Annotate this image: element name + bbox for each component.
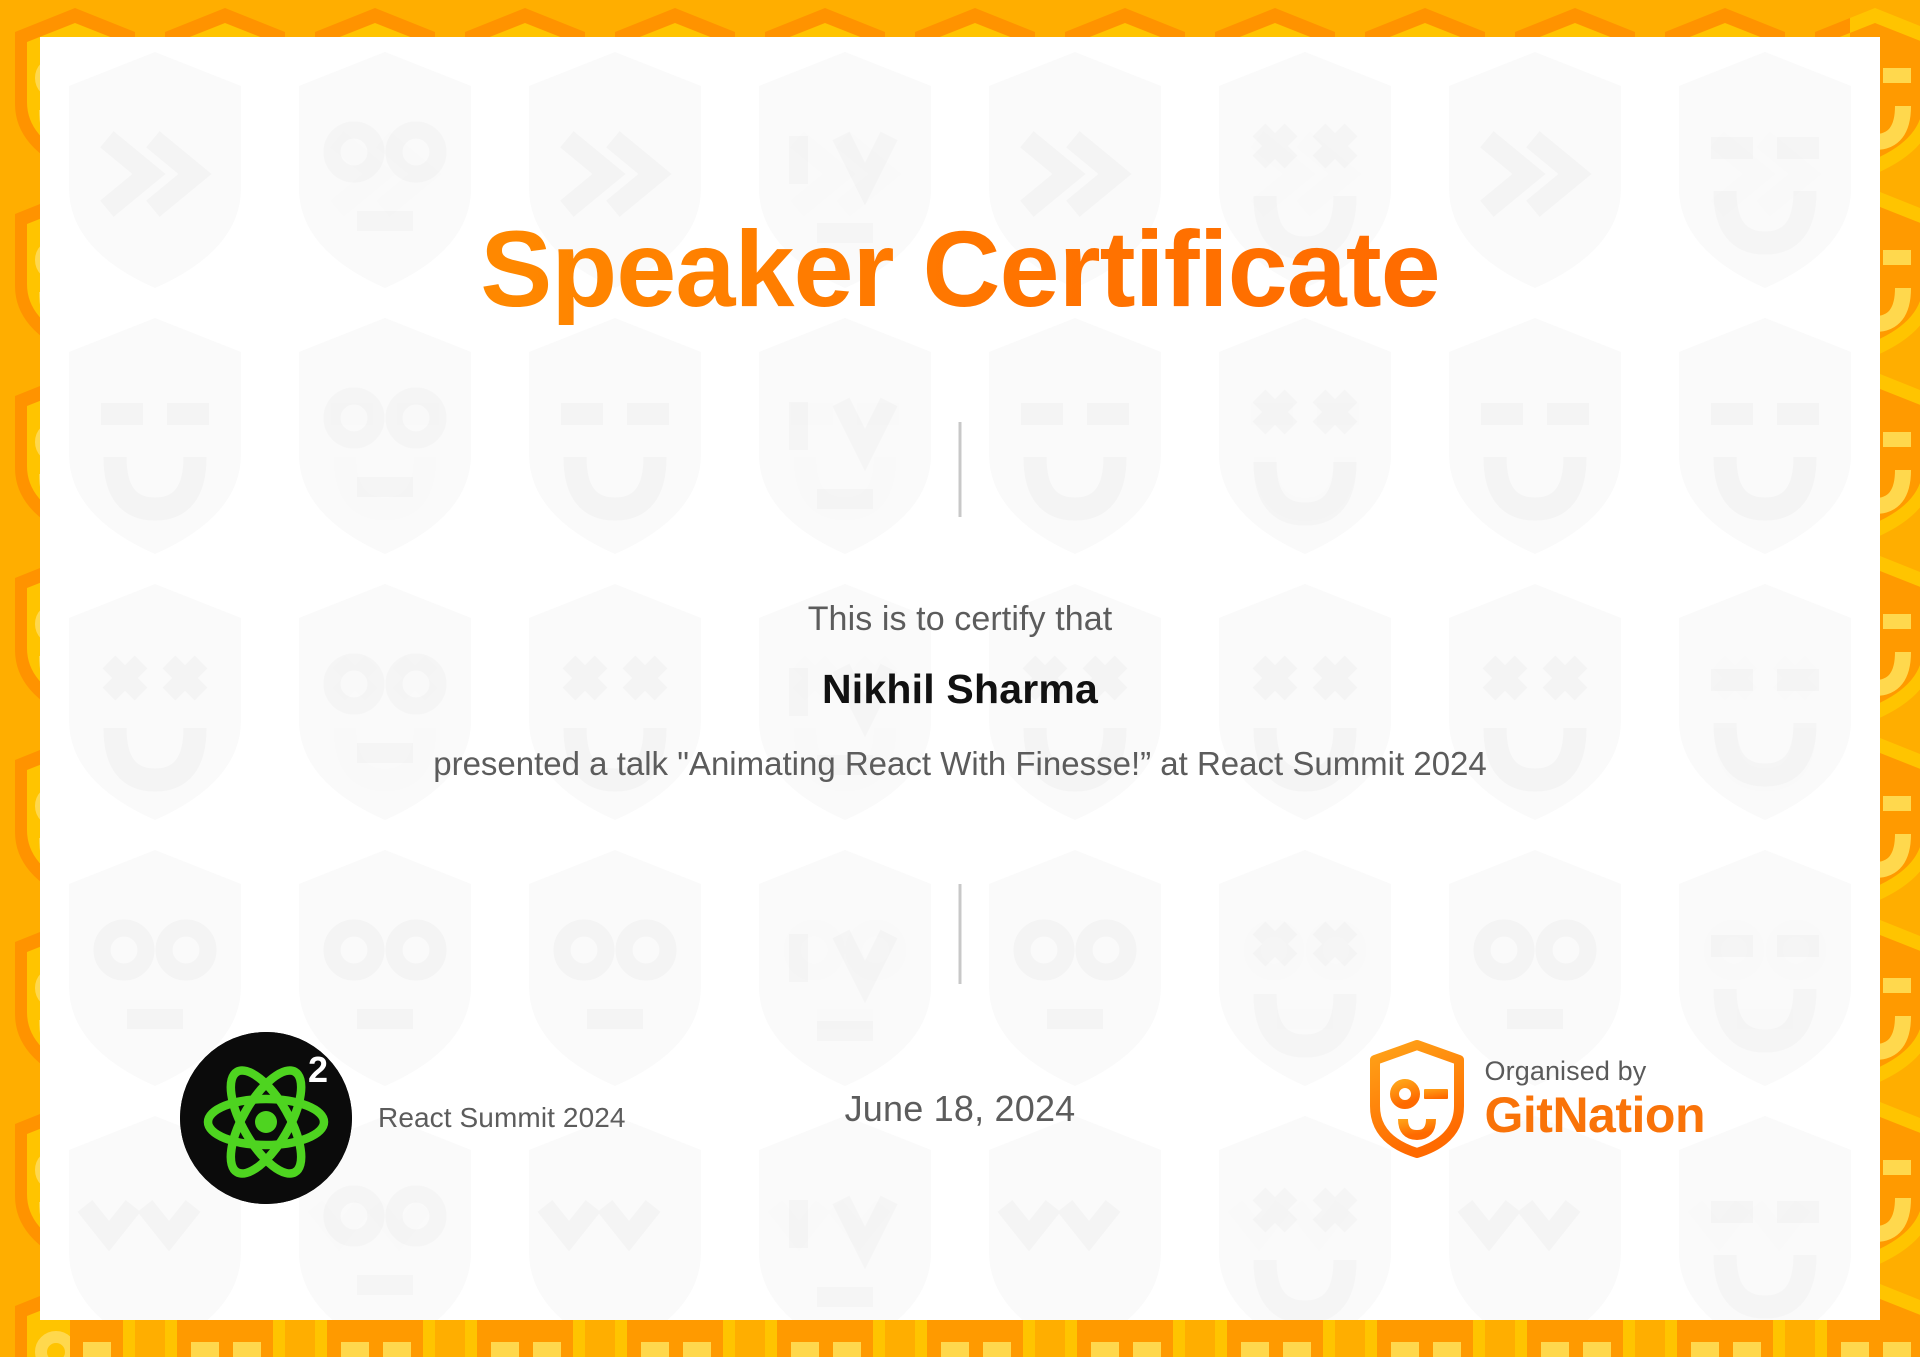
organiser-block: Organised by GitNation [1369, 1040, 1705, 1158]
organiser-prefix-label: Organised by [1485, 1057, 1705, 1085]
recipient-name: Nikhil Sharma [40, 666, 1880, 713]
footer-row: 2 React Summit 2024 June 18, 2024 [40, 1022, 1880, 1232]
organiser-text-block: Organised by GitNation [1485, 1057, 1705, 1141]
page-title: Speaker Certificate [40, 212, 1880, 325]
certificate-root: Speaker Certificate This is to certify t… [0, 0, 1920, 1357]
divider-top [959, 422, 962, 517]
talk-description: presented a talk "Animating React With F… [40, 745, 1880, 783]
divider-bottom [959, 884, 962, 984]
certificate-card: Speaker Certificate This is to certify t… [40, 37, 1880, 1320]
organiser-name-label: GitNation [1485, 1089, 1705, 1141]
gitnation-shield-face-icon [1369, 1040, 1465, 1158]
event-logo-badge-number: 2 [308, 1049, 328, 1090]
certify-statement: This is to certify that [40, 600, 1880, 639]
